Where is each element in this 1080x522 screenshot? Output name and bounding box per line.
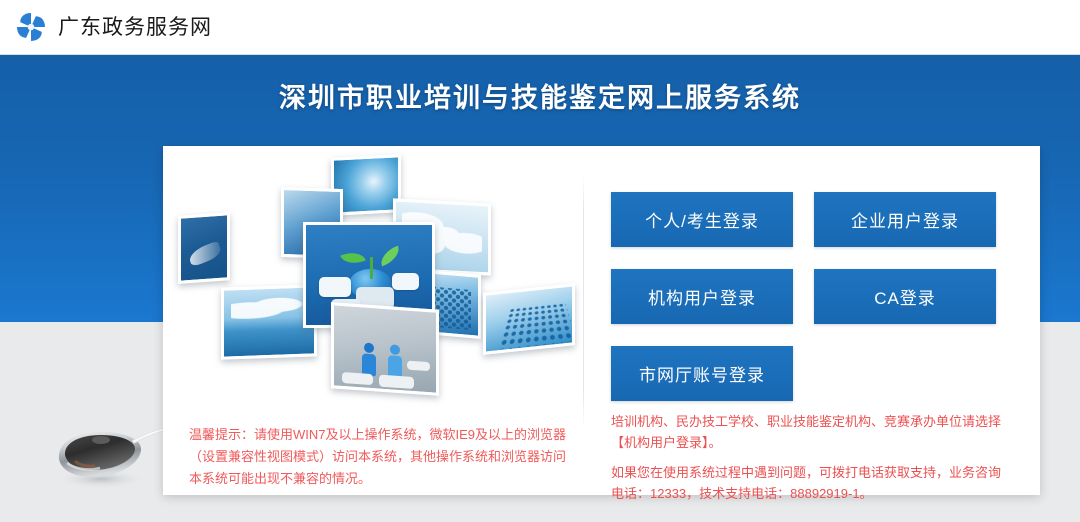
site-name: 广东政务服务网 <box>58 17 212 38</box>
login-button-organization[interactable]: 机构用户登录 <box>611 269 793 324</box>
computer-mouse-illustration <box>45 415 165 493</box>
login-button-grid: 个人/考生登录 企业用户登录 机构用户登录 CA登录 市网厅账号登录 <box>611 192 1011 401</box>
page-root: 广东政务服务网 深圳市职业培训与技能鉴定网上服务系统 <box>0 0 1080 522</box>
site-header: 广东政务服务网 <box>0 0 1080 55</box>
monitor-screen-wave <box>178 212 230 284</box>
login-button-area: 个人/考生登录 企业用户登录 机构用户登录 CA登录 市网厅账号登录 <box>611 192 1011 401</box>
card-divider <box>583 174 584 428</box>
monitor-screen-dots <box>483 283 575 355</box>
page-title: 深圳市职业培训与技能鉴定网上服务系统 <box>0 76 1080 115</box>
floating-monitors-illustration <box>163 146 583 436</box>
notice-support-phone: 如果您在使用系统过程中遇到问题，可拨打电话获取支持，业务咨询电话：12333，技… <box>611 462 1006 504</box>
login-button-personal[interactable]: 个人/考生登录 <box>611 192 793 247</box>
login-button-ca[interactable]: CA登录 <box>814 269 996 324</box>
login-guidance-notice: 培训机构、民办技工学校、职业技能鉴定机构、竞赛承办单位请选择【机构用户登录】。 … <box>611 411 1006 504</box>
login-button-city-hall[interactable]: 市网厅账号登录 <box>611 346 793 401</box>
notice-org-login: 培训机构、民办技工学校、职业技能鉴定机构、竞赛承办单位请选择【机构用户登录】。 <box>611 411 1006 453</box>
browser-compatibility-notice: 温馨提示：请使用WIN7及以上操作系统，微软IE9及以上的浏览器（设置兼容性视图… <box>189 424 569 490</box>
pinwheel-logo-icon <box>14 10 48 44</box>
main-content-card: 温馨提示：请使用WIN7及以上操作系统，微软IE9及以上的浏览器（设置兼容性视图… <box>163 146 1040 495</box>
login-button-enterprise[interactable]: 企业用户登录 <box>814 192 996 247</box>
monitor-screen-people <box>331 302 439 396</box>
